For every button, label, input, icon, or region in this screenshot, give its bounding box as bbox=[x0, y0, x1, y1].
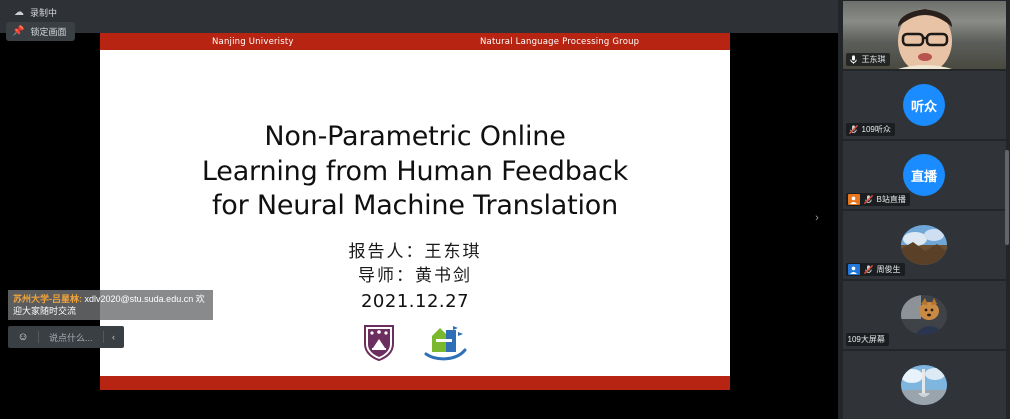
stage-top-bar bbox=[0, 0, 838, 33]
meeting-window: ☁ 录制中 📌 锁定画面 Nanjing Univeristy Natural … bbox=[0, 0, 1010, 419]
participant-name: B站直播 bbox=[877, 194, 906, 205]
participant-label: B站直播 bbox=[846, 193, 910, 206]
slide-title-line-1: Non-Parametric Online bbox=[135, 120, 695, 155]
chat-collapse-arrow-icon[interactable]: ‹ bbox=[104, 326, 124, 348]
chat-input[interactable]: 说点什么... bbox=[39, 326, 103, 348]
slide-header-university: Nanjing Univeristy bbox=[212, 37, 294, 47]
chat-message-sender: 苏州大学-吕星林: bbox=[13, 294, 82, 304]
recording-label: 录制中 bbox=[30, 6, 57, 19]
slide-title-line-2: Learning from Human Feedback bbox=[135, 155, 695, 190]
slide-logos bbox=[362, 322, 468, 362]
sky-photo bbox=[901, 365, 947, 405]
participant-label: 王东琪 bbox=[846, 53, 890, 66]
slide-date: 2021.12.27 bbox=[349, 291, 482, 312]
nlp-group-logo bbox=[422, 322, 468, 362]
avatar bbox=[901, 295, 947, 335]
lock-screen-button[interactable]: 📌 锁定画面 bbox=[6, 22, 75, 41]
person-glyph bbox=[849, 196, 858, 204]
mic-muted-icon bbox=[848, 124, 859, 135]
slide-header-band: Nanjing Univeristy Natural Language Proc… bbox=[100, 33, 730, 50]
participant-name: 王东琪 bbox=[862, 54, 886, 65]
lock-screen-label: 锁定画面 bbox=[30, 25, 66, 38]
person-glyph bbox=[849, 266, 858, 274]
cloud-icon: ☁ bbox=[14, 8, 24, 18]
slide-title: Non-Parametric Online Learning from Huma… bbox=[135, 120, 695, 224]
pet-photo bbox=[901, 295, 947, 335]
expand-sidebar-arrow-icon[interactable]: › bbox=[810, 208, 824, 228]
nanjing-university-logo bbox=[362, 322, 396, 362]
participant-label: 109大屏幕 bbox=[846, 333, 889, 346]
participant-tile[interactable]: 109大屏幕 bbox=[843, 281, 1006, 349]
slide-meta: 报告人：王东琪 导师：黄书剑 2021.12.27 bbox=[349, 240, 482, 312]
slide-advisor: 导师：黄书剑 bbox=[349, 264, 482, 289]
chat-input-bar[interactable]: ☺ 说点什么... ‹ bbox=[8, 326, 124, 348]
landscape-photo bbox=[901, 225, 947, 265]
slide-header-group: Natural Language Processing Group bbox=[480, 37, 639, 47]
participant-tile[interactable]: 听众 109听众 bbox=[843, 71, 1006, 139]
avatar bbox=[901, 225, 947, 265]
mic-muted-icon bbox=[863, 194, 874, 205]
chat-overlay: 苏州大学-吕星林: xdlv2020@stu.suda.edu.cn 欢迎大家随… bbox=[0, 290, 295, 380]
participant-tile[interactable]: 王东琪 bbox=[843, 1, 1006, 69]
mic-muted-icon bbox=[863, 264, 874, 275]
participant-tile[interactable] bbox=[843, 351, 1006, 419]
emoji-icon[interactable]: ☺ bbox=[8, 326, 38, 348]
slide-presenter: 报告人：王东琪 bbox=[349, 240, 482, 265]
participant-label: 109听众 bbox=[846, 123, 895, 136]
slide-title-line-3: for Neural Machine Translation bbox=[135, 189, 695, 224]
user-badge-icon bbox=[848, 264, 860, 275]
recording-indicator: ☁ 录制中 bbox=[8, 4, 63, 21]
mic-on-icon bbox=[848, 54, 859, 65]
shared-screen-stage[interactable]: ☁ 录制中 📌 锁定画面 Nanjing Univeristy Natural … bbox=[0, 0, 838, 419]
participant-name: 109听众 bbox=[862, 124, 891, 135]
host-badge-icon bbox=[848, 194, 860, 205]
avatar: 听众 bbox=[903, 84, 945, 126]
avatar bbox=[901, 365, 947, 405]
participant-name: 109大屏幕 bbox=[848, 334, 885, 345]
participant-tile[interactable]: 周俊生 bbox=[843, 211, 1006, 279]
sidebar-scrollbar[interactable] bbox=[1005, 150, 1009, 245]
chat-message: 苏州大学-吕星林: xdlv2020@stu.suda.edu.cn 欢迎大家随… bbox=[8, 290, 213, 320]
avatar: 直播 bbox=[903, 154, 945, 196]
participant-sidebar[interactable]: 王东琪 听众 109听众 直播 bbox=[838, 0, 1010, 419]
pin-icon: 📌 bbox=[12, 27, 24, 37]
participant-tile[interactable]: 直播 B站直播 bbox=[843, 141, 1006, 209]
participant-label: 周俊生 bbox=[846, 263, 905, 276]
participant-name: 周俊生 bbox=[877, 264, 901, 275]
